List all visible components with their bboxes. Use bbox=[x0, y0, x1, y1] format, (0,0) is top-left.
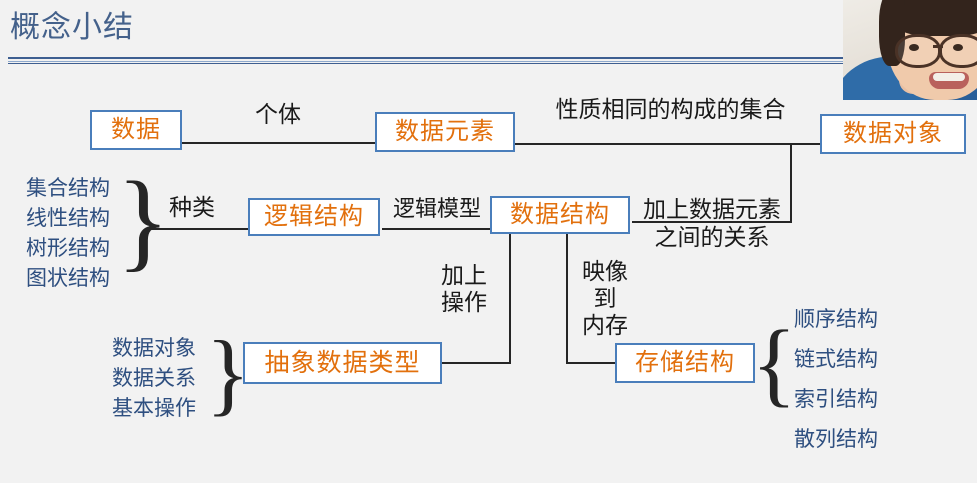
edge-storage-horizontal bbox=[566, 362, 615, 364]
edge-label-plus-operation: 加上 操作 bbox=[424, 262, 504, 316]
edge-data-to-data-element bbox=[182, 142, 375, 144]
edge-label-individual: 个体 bbox=[233, 101, 323, 127]
edge-data-structure-to-adt-vertical bbox=[509, 234, 511, 364]
title-divider-line-2 bbox=[8, 61, 843, 62]
webcam-glasses-bridge bbox=[933, 45, 943, 48]
edge-label-map-to-memory: 映像 到 内存 bbox=[572, 258, 638, 339]
node-data[interactable]: 数据 bbox=[90, 110, 182, 150]
title-divider-line-3 bbox=[8, 63, 843, 64]
edge-data-element-to-data-object bbox=[515, 143, 822, 145]
edge-data-structure-to-storage-vertical bbox=[566, 234, 568, 364]
edge-label-kind: 种类 bbox=[157, 194, 227, 220]
webcam-teeth bbox=[933, 73, 965, 81]
node-data-object[interactable]: 数据对象 bbox=[820, 114, 966, 154]
node-abstract-data-type[interactable]: 抽象数据类型 bbox=[243, 342, 442, 384]
webcam-eye-right bbox=[953, 44, 963, 51]
brace-logical-kinds: } bbox=[128, 168, 158, 272]
edge-label-logical-model: 逻辑模型 bbox=[385, 196, 489, 222]
title-divider-line-1 bbox=[8, 57, 843, 59]
brace-adt-parts: } bbox=[214, 330, 242, 416]
slide-canvas: 概念小结 数据 个体 数据元素 性质相同的构成的集合 数据对象 集合结构 线性结… bbox=[0, 0, 977, 483]
presenter-webcam-video[interactable] bbox=[843, 0, 977, 100]
page-title: 概念小结 bbox=[10, 8, 134, 48]
webcam-glasses-left-lens bbox=[895, 34, 941, 68]
node-data-structure[interactable]: 数据结构 bbox=[490, 196, 630, 234]
edge-label-plus-relation-line2: 之间的关系 bbox=[647, 224, 777, 250]
edge-adt-horizontal bbox=[442, 362, 511, 364]
node-data-element[interactable]: 数据元素 bbox=[375, 112, 515, 152]
edge-logical-structure-to-data-structure bbox=[382, 228, 490, 230]
webcam-glasses-right-lens bbox=[939, 34, 977, 68]
edge-kinds-to-logical-structure bbox=[150, 228, 248, 230]
edge-label-same-property-set: 性质相同的构成的集合 bbox=[518, 96, 823, 122]
edge-label-plus-relation-line1: 加上数据元素 bbox=[634, 196, 790, 222]
webcam-eye-left bbox=[909, 44, 919, 51]
node-storage-structure[interactable]: 存储结构 bbox=[615, 343, 755, 383]
brace-storage-kinds: { bbox=[760, 320, 788, 408]
list-storage-kinds: 顺序结构 链式结构 索引结构 散列结构 bbox=[794, 300, 914, 460]
node-logical-structure[interactable]: 逻辑结构 bbox=[248, 198, 380, 236]
edge-data-object-down bbox=[790, 143, 792, 223]
